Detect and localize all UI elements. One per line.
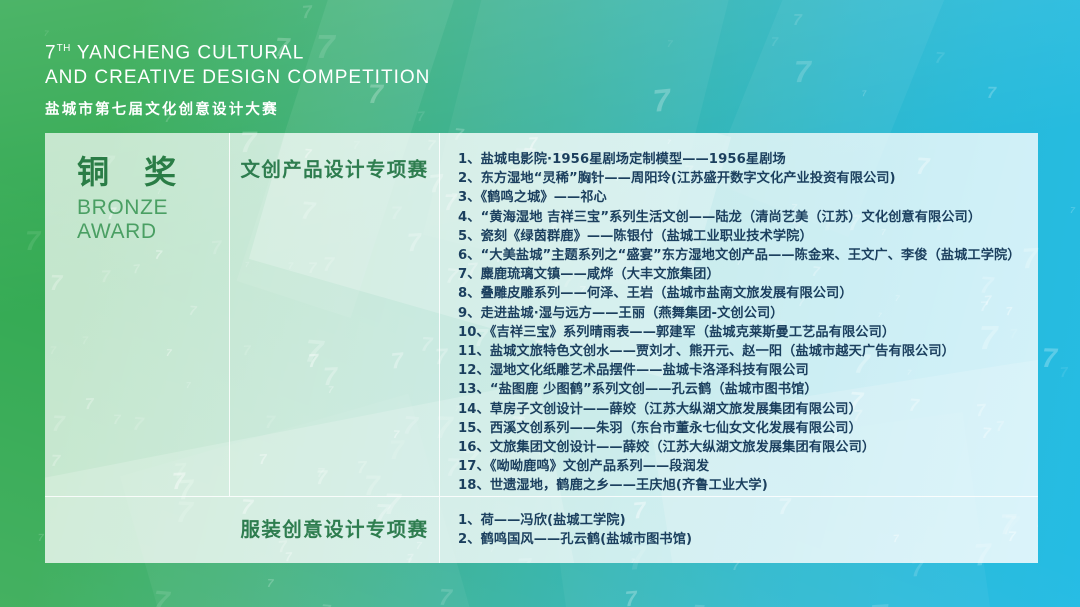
seven-glyph-icon: 7 [987, 85, 996, 101]
category-cell-fashion-design: 服装创意设计专项赛 [230, 497, 440, 563]
winner-item: 18、世遗湿地，鹤鹿之乡——王庆旭(齐鲁工业大学) [458, 476, 1028, 495]
seven-glyph-icon: 7 [321, 603, 332, 607]
winner-list-fashion-design: 1、荷——冯欣(盐城工学院)2、鹤鸣国风——孔云鹤(盐城市图书馆) [440, 497, 1038, 563]
header-subtitle-cn: 盐城市第七届文化创意设计大赛 [45, 98, 430, 119]
seven-glyph-icon: 7 [1069, 206, 1074, 215]
seven-glyph-icon: 7 [667, 40, 673, 50]
award-title-cell-spacer [45, 497, 230, 563]
award-name-cn: 铜 奖 [77, 155, 229, 190]
seven-glyph-icon: 7 [794, 57, 811, 88]
award-name-en: BRONZE AWARD [77, 196, 229, 244]
winner-item: 11、盐城文旅特色文创水——贾刘才、熊开元、赵一阳（盐城市越天广告有限公司） [458, 342, 1028, 361]
header-line-1-text: YANCHENG CULTURAL [77, 42, 304, 63]
winner-item: 7、麋鹿琉璃文镇——咸烨（大丰文旅集团） [458, 265, 1028, 284]
winner-item: 1、荷——冯欣(盐城工学院) [458, 511, 1028, 530]
seven-glyph-icon: 7 [438, 585, 452, 607]
winner-list-cultural-products: 1、盐城电影院·1956星剧场定制模型——1956星剧场2、东方湿地“灵稀”胸针… [440, 133, 1038, 496]
header-line-2: AND CREATIVE DESIGN COMPETITION [45, 65, 430, 90]
award-table: 铜 奖 BRONZE AWARD 文创产品设计专项赛 1、盐城电影院·1956星… [45, 133, 1038, 563]
winner-item: 10、《吉祥三宝》系列晴雨表——郭建军（盐城克莱斯曼工艺品有限公司） [458, 323, 1028, 342]
winner-item: 15、西溪文创系列——朱羽（东台市董永七仙女文化发展有限公司） [458, 419, 1028, 438]
header-line-1: 7TH YANCHENG CULTURAL [45, 36, 430, 65]
category-label: 文创产品设计专项赛 [240, 153, 428, 182]
category-label: 服装创意设计专项赛 [240, 513, 428, 542]
seven-glyph-icon: 7 [1060, 366, 1069, 381]
seven-glyph-icon: 7 [625, 589, 639, 607]
winner-item: 12、湿地文化纸雕艺术品摆件——盐城卡洛泽科技有限公司 [458, 361, 1028, 380]
table-row-cultural-products: 铜 奖 BRONZE AWARD 文创产品设计专项赛 1、盐城电影院·1956星… [45, 133, 1038, 496]
seven-glyph-icon: 7 [793, 13, 802, 29]
seven-glyph-icon: 7 [934, 50, 944, 66]
seven-glyph-icon: 7 [1042, 344, 1058, 371]
seven-glyph-icon: 7 [25, 227, 40, 254]
winner-item: 2、鹤鸣国风——孔云鹤(盐城市图书馆) [458, 530, 1028, 549]
category-cell-cultural-products: 文创产品设计专项赛 [230, 133, 440, 496]
winner-item: 13、“盐图鹿 少图鹤”系列文创——孔云鹤（盐城市图书馆） [458, 380, 1028, 399]
seven-glyph-icon: 7 [302, 3, 314, 22]
winner-item: 14、草房子文创设计——薛姣（江苏大纵湖文旅发展集团有限公司） [458, 400, 1028, 419]
competition-header: 7TH YANCHENG CULTURAL AND CREATIVE DESIG… [45, 36, 430, 119]
award-title-cell: 铜 奖 BRONZE AWARD [45, 133, 230, 496]
seven-glyph-icon: 7 [861, 90, 866, 99]
seven-glyph-icon: 7 [771, 36, 778, 49]
winner-item: 17、《呦呦鹿鸣》文创产品系列——段润发 [458, 457, 1028, 476]
winner-item: 6、“大美盐城”主题系列之“盛宴”东方湿地文创产品——陈金来、王文广、李俊（盐城… [458, 246, 1028, 265]
winner-item: 4、“黄海湿地 吉祥三宝”系列生活文创——陆龙（清尚艺美（江苏）文化创意有限公司… [458, 208, 1028, 227]
header-ordinal: 7 [45, 42, 57, 63]
award-panel: 7777777777777777777777777777777777777777… [45, 133, 1038, 563]
header-ordinal-suffix: TH [57, 43, 71, 54]
winner-item: 9、走进盐城·湿与远方——王丽（燕舞集团-文创公司） [458, 304, 1028, 323]
seven-glyph-icon: 7 [267, 579, 274, 591]
seven-glyph-icon: 7 [38, 534, 44, 544]
winner-item: 1、盐城电影院·1956星剧场定制模型——1956星剧场 [458, 150, 1028, 169]
table-row-fashion-design: 服装创意设计专项赛 1、荷——冯欣(盐城工学院)2、鹤鸣国风——孔云鹤(盐城市图… [45, 496, 1038, 563]
winner-item: 16、文旅集团文创设计——薛姣（江苏大纵湖文旅发展集团有限公司） [458, 438, 1028, 457]
winner-item: 3、《鹤鸣之城》——祁心 [458, 188, 1028, 207]
winner-item: 2、东方湿地“灵稀”胸针——周阳玲(江苏盛开数字文化产业投资有限公司) [458, 169, 1028, 188]
seven-glyph-icon: 7 [152, 587, 170, 607]
seven-glyph-icon: 7 [692, 603, 704, 607]
seven-glyph-icon: 7 [869, 600, 889, 607]
winner-item: 8、叠雕皮雕系列——何泽、王岩（盐城市盐南文旅发展有限公司） [458, 284, 1028, 303]
seven-glyph-icon: 7 [651, 84, 671, 117]
winner-item: 5、瓷刻《绿茵群鹿》——陈银付（盐城工业职业技术学院） [458, 227, 1028, 246]
